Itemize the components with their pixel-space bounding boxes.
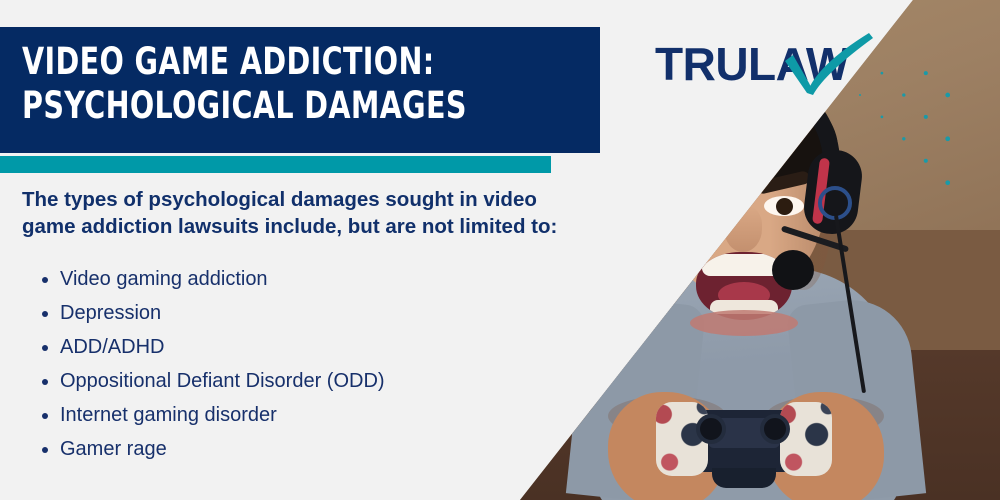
damages-list: Video gaming addiction Depression ADD/AD… [30,262,385,466]
thumbstick-right [760,414,790,444]
teal-accent-bar [0,156,551,173]
list-item: Internet gaming disorder [60,398,385,432]
eye-right [764,196,804,216]
checkmark-icon [783,31,875,99]
page-title: VIDEO GAME ADDICTION: PSYCHOLOGICAL DAMA… [22,40,504,128]
headset-earcup-left [631,147,695,237]
list-item-label: Video gaming addiction [60,268,268,290]
intro-paragraph: The types of psychological damages sough… [22,186,582,241]
list-item-label: Depression [60,302,161,324]
list-item-label: Gamer rage [60,438,167,460]
list-item: Oppositional Defiant Disorder (ODD) [60,364,385,398]
controller-grip-right [780,402,832,476]
eye-left [676,196,716,216]
title-banner: VIDEO GAME ADDICTION: PSYCHOLOGICAL DAMA… [0,27,600,153]
list-item: Video gaming addiction [60,262,385,296]
controller-pattern [780,402,832,476]
thumbstick-left [696,414,726,444]
list-item-label: Oppositional Defiant Disorder (ODD) [60,370,385,392]
list-item-label: ADD/ADHD [60,336,164,358]
eyebrow-left [669,170,725,195]
microphone-head [772,250,814,290]
lower-lip [690,310,798,336]
list-item: Gamer rage [60,432,385,466]
nose [724,206,762,252]
infographic-canvas: VIDEO GAME ADDICTION: PSYCHOLOGICAL DAMA… [0,0,1000,500]
controller-underside [712,468,776,488]
game-controller [656,398,832,484]
list-item: Depression [60,296,385,330]
pupil [688,198,705,215]
pupil [776,198,793,215]
trulaw-logo[interactable]: TRULAW [655,33,865,95]
list-item-label: Internet gaming disorder [60,404,277,426]
list-item: ADD/ADHD [60,330,385,364]
